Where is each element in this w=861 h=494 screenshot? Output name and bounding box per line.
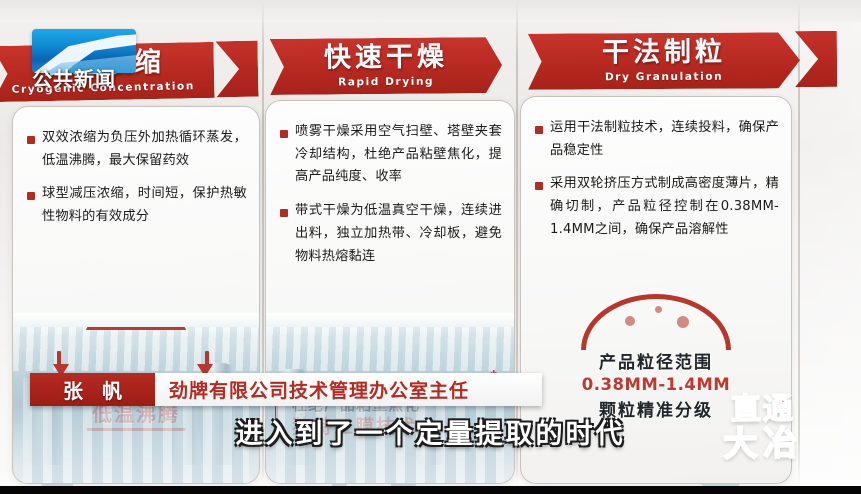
particle-dot [655,306,662,313]
callout-line-2: 0.38MM-1.4MM [521,375,791,394]
video-frame: 低温浓缩 Cryogenic Concentration 快速干燥 Rapid … [0,0,861,494]
watermark-line-1: 直通 [722,395,802,425]
lower-third-banner: 张 帆 劲牌有限公司技术管理办公室主任 [30,373,542,406]
particle-dot [677,316,689,328]
bullet-item: 运用干法制粒技术，连续投料，确保产品稳定性 [535,117,779,162]
bullet-square-icon [535,182,543,190]
bullet-square-icon [280,130,288,138]
bullet-text: 双效浓缩为负压外加热循环蒸发，低温沸腾，最大保留药效 [42,127,247,172]
speaker-title-box: 劲牌有限公司技术管理办公室主任 [155,373,542,406]
bullet-text: 球型减压浓缩，时间短，保护热敏性物料的有效成分 [42,183,247,228]
ceiling-strip [0,0,861,22]
banner-dry-granulation: 干法制粒 Dry Granulation [528,32,800,89]
bullet-text: 喷雾干燥采用空气扫壁、塔壁夹套冷却结构，杜绝产品粘壁焦化，提高产品纯度、收率 [295,121,502,189]
bullet-list: 双效浓缩为负压外加热循环蒸发，低温沸腾，最大保留药效 球型减压浓缩，时间短，保护… [13,107,259,229]
bullet-square-icon [27,192,35,200]
bullet-square-icon [27,136,35,144]
bullet-item: 双效浓缩为负压外加热循环蒸发，低温沸腾，最大保留药效 [27,127,247,172]
bullet-text: 运用干法制粒技术，连续投料，确保产品稳定性 [550,117,779,162]
bullet-item: 带式干燥为低温真空干燥，连续进出料，独立加热带、冷却板，避免物料热熔黏连 [280,200,502,268]
letterbox-bar [0,486,861,494]
channel-logo-name: 公共新闻 [32,63,150,92]
program-watermark: 直通 大冶 [722,395,803,461]
banner-title-en: Dry Granulation [605,71,723,84]
bullet-list: 喷雾干燥采用空气扫壁、塔壁夹套冷却结构，杜绝产品粘壁焦化，提高产品纯度、收率 带… [266,101,514,268]
bullet-item: 球型减压浓缩，时间短，保护热敏性物料的有效成分 [27,183,247,228]
watermark-line-2: 大冶 [723,426,804,461]
particle-dot [625,316,635,326]
banner-title-cn: 快速干燥 [324,43,448,71]
bullet-list: 运用干法制粒技术，连续投料，确保产品稳定性 采用双轮挤压方式制成高密度薄片，精确… [521,97,791,242]
bullet-item: 喷雾干燥采用空气扫壁、塔壁夹套冷却结构，杜绝产品粘壁焦化，提高产品纯度、收率 [280,121,502,189]
bullet-text: 带式干燥为低温真空干燥，连续进出料，独立加热带、冷却板，避免物料热熔黏连 [295,200,502,268]
bullet-text: 采用双轮挤压方式制成高密度薄片，精确切制，产品粒径控制在0.38MM-1.4MM… [550,173,779,241]
bullet-item: 采用双轮挤压方式制成高密度薄片，精确切制，产品粒径控制在0.38MM-1.4MM… [535,173,779,241]
speaker-title: 劲牌有限公司技术管理办公室主任 [169,376,469,403]
bullet-square-icon [280,209,288,217]
speaker-name-box: 张 帆 [30,373,155,406]
bullet-square-icon [535,126,543,134]
arc-graphic [581,294,731,350]
channel-logo: 公共新闻 [32,29,136,73]
banner-rapid-drying: 快速干燥 Rapid Drying [270,37,502,95]
banner-title-en: Rapid Drying [338,76,434,89]
speaker-name: 张 帆 [57,375,128,404]
banner-title-cn: 干法制粒 [602,39,726,67]
callout-line-1: 产品粒径范围 [521,348,791,373]
